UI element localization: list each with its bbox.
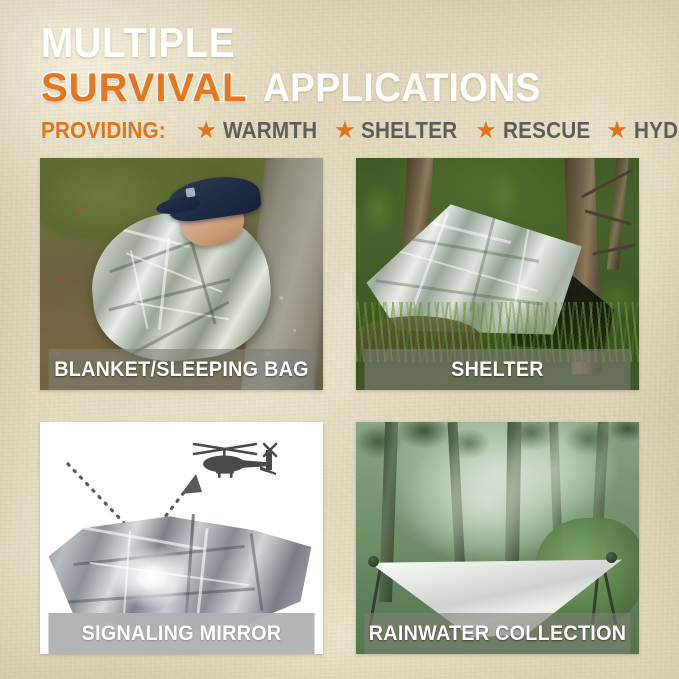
helicopter-icon: [190, 440, 280, 484]
panel-row-bottom: SIGNALING MIRROR: [40, 422, 640, 654]
panel-caption-rainwater-collection: RAINWATER COLLECTION: [364, 613, 630, 654]
feature-hydration: HYDRATION: [634, 119, 679, 142]
tie-point-right: [606, 552, 617, 563]
panel-row-top: BLANKET/SLEEPING BAG: [40, 158, 640, 390]
product-infographic-poster: MULTIPLE SURVIVAL APPLICATIONS PROVIDING…: [0, 0, 679, 679]
feature-shelter: SHELTER: [361, 119, 457, 142]
panel-caption-blanket-sleeping-bag: BLANKET/SLEEPING BAG: [48, 349, 314, 390]
star-icon: ★: [608, 120, 627, 141]
providing-label: PROVIDING:: [41, 119, 166, 142]
sunlight-glare: [96, 534, 206, 620]
panel-blanket-sleeping-bag: BLANKET/SLEEPING BAG: [40, 158, 323, 390]
panel-caption-signaling-mirror: SIGNALING MIRROR: [48, 613, 314, 654]
star-icon: ★: [197, 120, 216, 141]
star-icon: ★: [477, 120, 496, 141]
feature-warmth: WARMTH: [223, 119, 317, 142]
panel-signaling-mirror: SIGNALING MIRROR: [40, 422, 323, 654]
headline-second-line: SURVIVAL APPLICATIONS: [41, 66, 561, 110]
star-icon: ★: [335, 120, 354, 141]
providing-feature-list: PROVIDING: ★ WARMTH ★ SHELTER ★ RESCUE ★…: [41, 119, 679, 142]
use-case-panel-grid: BLANKET/SLEEPING BAG: [40, 158, 640, 654]
feature-rescue: RESCUE: [503, 119, 590, 142]
headline-applications-word: APPLICATIONS: [263, 68, 541, 108]
cap-logo: [185, 187, 195, 197]
panel-caption-shelter: SHELTER: [364, 349, 630, 390]
tie-point-left: [368, 556, 379, 567]
panel-shelter: SHELTER: [356, 158, 639, 390]
headline-survival-word: SURVIVAL: [41, 68, 248, 108]
headline-multiple: MULTIPLE: [41, 22, 235, 64]
panel-rainwater-collection: RAINWATER COLLECTION: [356, 422, 639, 654]
